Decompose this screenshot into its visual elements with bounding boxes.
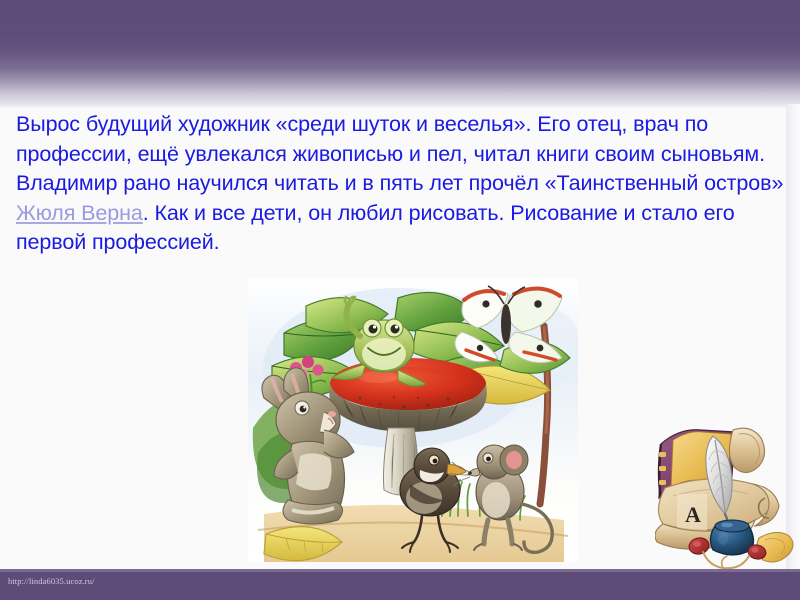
- slide-canvas: Вырос будущий художник «среди шуток и ве…: [0, 0, 800, 600]
- paragraph-text-before-link: Вырос будущий художник «среди шуток и ве…: [16, 112, 783, 195]
- footer-band: [0, 572, 800, 600]
- hyperlink-jules-verne[interactable]: Жюля Верна: [16, 201, 143, 225]
- header-gradient-band: [0, 0, 800, 104]
- scroll-letter: А: [685, 502, 701, 527]
- footer-url-text[interactable]: http://linda6035.ucoz.ru/: [8, 576, 95, 586]
- body-paragraph: Вырос будущий художник «среди шуток и ве…: [16, 110, 784, 258]
- scroll-quill-inkwell-decoration: А: [655, 422, 800, 574]
- children-book-illustration: [248, 278, 578, 562]
